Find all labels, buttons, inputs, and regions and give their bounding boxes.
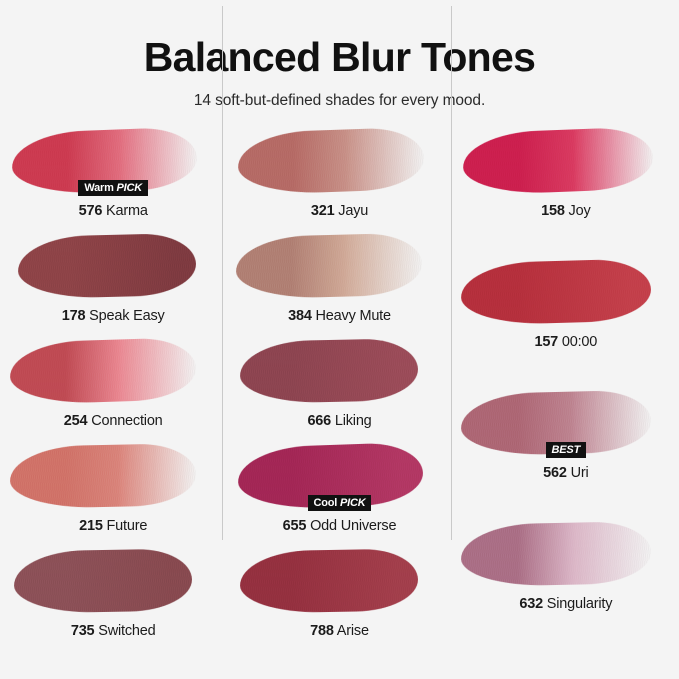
shade-number: 384 (288, 308, 312, 324)
shade-badge-slot (453, 571, 679, 586)
shade-name: Future (103, 518, 148, 534)
shade-item[interactable]: 215 Future (0, 445, 226, 535)
shade-caption: 157 00:00 (453, 333, 679, 351)
badge-secondary-text: PICK (117, 182, 142, 194)
shade-caption: 158 Joy (453, 202, 679, 220)
shade-grid: Warm PICK576 Karma178 Speak Easy254 Conn… (0, 130, 679, 679)
shade-caption: 254 Connection (0, 412, 226, 430)
shade-column-3: 158 Joy157 00:00BEST562 Uri632 Singulari… (453, 130, 679, 679)
shade-badge-slot (453, 309, 679, 324)
shade-number: 254 (64, 413, 88, 429)
shade-badge-slot (226, 388, 452, 403)
shade-number: 562 (543, 465, 567, 481)
shade-caption: 178 Speak Easy (0, 307, 226, 325)
shade-item[interactable]: 178 Speak Easy (0, 235, 226, 325)
shade-badge: Cool PICK (308, 495, 372, 511)
shade-caption: 384 Heavy Mute (226, 307, 452, 325)
shade-name: Speak Easy (85, 308, 164, 324)
shade-item[interactable]: 788 Arise (226, 550, 452, 640)
shade-number: 157 (534, 334, 558, 350)
shade-chart-poster: Balanced Blur Tones 14 soft-but-defined … (0, 0, 679, 679)
shade-badge-slot (0, 493, 226, 508)
badge-primary-text: Warm (84, 182, 116, 194)
shade-number: 632 (519, 596, 543, 612)
shade-caption: 576 Karma (0, 202, 226, 220)
shade-caption: 562 Uri (453, 464, 679, 482)
shade-item[interactable]: Cool PICK655 Odd Universe (226, 445, 452, 535)
shade-name: Singularity (543, 596, 612, 612)
shade-item[interactable]: 158 Joy (453, 130, 679, 220)
shade-number: 576 (79, 203, 103, 219)
shade-caption: 666 Liking (226, 412, 452, 430)
shade-item[interactable]: 632 Singularity (453, 523, 679, 613)
shade-badge-slot (226, 178, 452, 193)
shade-badge: Warm PICK (78, 180, 148, 196)
shade-caption: 655 Odd Universe (226, 517, 452, 535)
shade-item[interactable]: Warm PICK576 Karma (0, 130, 226, 220)
shade-number: 655 (283, 518, 307, 534)
shade-badge-slot (0, 598, 226, 613)
shade-name: Arise (334, 623, 369, 639)
shade-caption: 215 Future (0, 517, 226, 535)
shade-name: Jayu (334, 203, 368, 219)
shade-badge-slot (0, 388, 226, 403)
shade-item[interactable]: 254 Connection (0, 340, 226, 430)
badge-primary-text: Cool (314, 497, 341, 509)
shade-name: 00:00 (558, 334, 597, 350)
shade-badge-slot (453, 178, 679, 193)
shade-name: Connection (87, 413, 162, 429)
shade-number: 666 (307, 413, 331, 429)
shade-caption: 321 Jayu (226, 202, 452, 220)
shade-number: 735 (71, 623, 95, 639)
shade-badge-slot (226, 283, 452, 298)
shade-name: Liking (331, 413, 372, 429)
shade-number: 321 (311, 203, 335, 219)
shade-caption: 788 Arise (226, 622, 452, 640)
shade-name: Uri (567, 465, 589, 481)
shade-item[interactable]: BEST562 Uri (453, 392, 679, 482)
shade-badge: BEST (546, 442, 587, 458)
shade-name: Heavy Mute (312, 308, 391, 324)
badge-secondary-text: PICK (340, 497, 365, 509)
shade-badge-slot (226, 598, 452, 613)
shade-item[interactable]: 666 Liking (226, 340, 452, 430)
poster-header: Balanced Blur Tones 14 soft-but-defined … (0, 0, 679, 110)
shade-item[interactable]: 321 Jayu (226, 130, 452, 220)
shade-name: Karma (102, 203, 148, 219)
shade-item[interactable]: 384 Heavy Mute (226, 235, 452, 325)
shade-badge-slot: Cool PICK (226, 493, 452, 508)
shade-column-1: Warm PICK576 Karma178 Speak Easy254 Conn… (0, 130, 226, 679)
shade-number: 788 (310, 623, 334, 639)
shade-number: 158 (541, 203, 565, 219)
shade-item[interactable]: 735 Switched (0, 550, 226, 640)
shade-column-2: 321 Jayu384 Heavy Mute666 LikingCool PIC… (226, 130, 452, 679)
page-subtitle: 14 soft-but-defined shades for every moo… (0, 92, 679, 110)
page-title: Balanced Blur Tones (0, 36, 679, 79)
shade-badge-slot (0, 283, 226, 298)
shade-caption: 735 Switched (0, 622, 226, 640)
shade-badge-slot: Warm PICK (0, 178, 226, 193)
shade-number: 215 (79, 518, 103, 534)
shade-caption: 632 Singularity (453, 595, 679, 613)
shade-item[interactable]: 157 00:00 (453, 261, 679, 351)
shade-name: Odd Universe (306, 518, 396, 534)
shade-name: Joy (565, 203, 591, 219)
shade-number: 178 (62, 308, 86, 324)
badge-secondary-text: BEST (552, 444, 581, 456)
shade-name: Switched (94, 623, 155, 639)
shade-badge-slot: BEST (453, 440, 679, 455)
